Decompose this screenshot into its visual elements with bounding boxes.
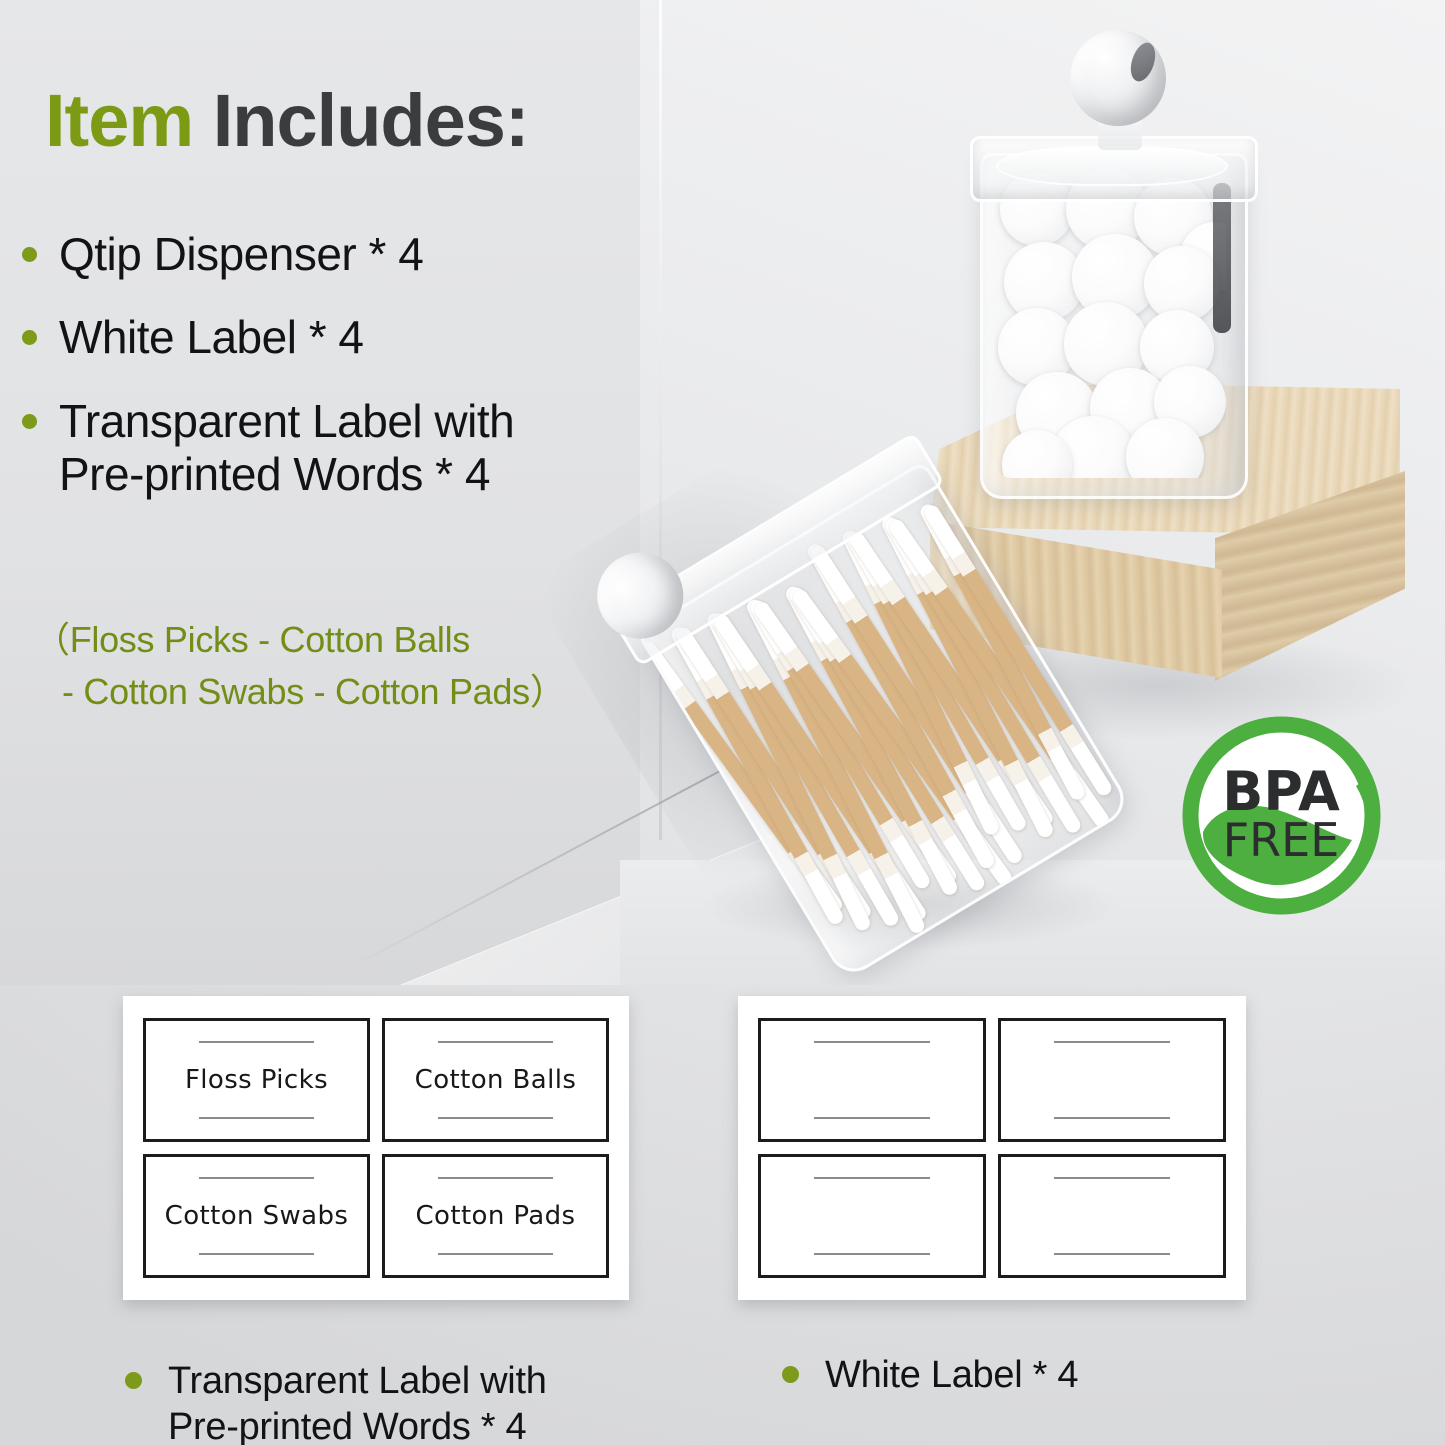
list-item-label: Transparent Label with Pre-printed Words…	[59, 395, 514, 502]
bullet-dot-icon	[22, 414, 37, 429]
label-rule-top	[814, 1177, 929, 1179]
caption-text: White Label * 4	[825, 1352, 1078, 1398]
label-rule-bottom	[438, 1253, 553, 1255]
caption-transparent-label: Transparent Label with Pre-printed Words…	[125, 1358, 725, 1445]
list-item-label: Qtip Dispenser * 4	[59, 228, 423, 281]
page-title-green-word: Item	[45, 79, 193, 162]
label-card	[998, 1018, 1226, 1142]
label-card	[998, 1154, 1226, 1278]
label-rule-top	[438, 1041, 553, 1043]
bullet-dot-icon	[22, 330, 37, 345]
bullet-dot-icon	[125, 1372, 142, 1389]
cotton-ball-jar-lid-rim	[996, 146, 1228, 186]
transparent-label-sheet: Floss Picks Cotton Balls Cotton Swabs Co…	[123, 996, 629, 1300]
label-card-text: Cotton Balls	[415, 1065, 577, 1095]
label-card: Cotton Pads	[382, 1154, 609, 1278]
page-title: Item Includes:	[45, 78, 529, 163]
bpa-free-badge-icon: BPA FREE	[1180, 714, 1383, 917]
caption-white-label: White Label * 4	[782, 1352, 1302, 1398]
cotton-ball-jar	[960, 18, 1260, 488]
caption-text: Transparent Label with Pre-printed Words…	[168, 1358, 547, 1445]
cotton-balls-fill	[994, 168, 1226, 478]
label-rule-top	[1054, 1041, 1169, 1043]
label-rule-top	[199, 1177, 314, 1179]
label-rule-bottom	[1054, 1117, 1169, 1119]
label-rule-top	[438, 1177, 553, 1179]
list-item: White Label * 4	[22, 311, 662, 364]
jar-highlight	[1213, 183, 1231, 333]
label-card-text: Floss Picks	[185, 1065, 328, 1095]
label-rule-top	[1054, 1177, 1169, 1179]
label-card-text: Cotton Swabs	[165, 1201, 349, 1231]
label-rule-bottom	[1054, 1253, 1169, 1255]
label-card	[758, 1154, 986, 1278]
label-rule-bottom	[814, 1253, 929, 1255]
infographic-canvas: Item Includes: Qtip Dispenser * 4 White …	[0, 0, 1445, 1445]
bpa-badge-line2: FREE	[1223, 813, 1340, 867]
bullet-dot-icon	[782, 1366, 799, 1383]
label-rule-top	[199, 1041, 314, 1043]
page-title-dark-word: Includes:	[213, 79, 529, 162]
preprinted-words-note: （Floss Picks - Cotton Balls - Cotton Swa…	[34, 614, 654, 718]
label-card: Floss Picks	[143, 1018, 370, 1142]
note-line-1: （Floss Picks - Cotton Balls	[34, 619, 470, 660]
label-rule-bottom	[199, 1253, 314, 1255]
label-rule-top	[814, 1041, 929, 1043]
white-label-sheet	[738, 996, 1246, 1300]
list-item-label: White Label * 4	[59, 311, 363, 364]
label-rule-bottom	[814, 1117, 929, 1119]
note-line-2: - Cotton Swabs - Cotton Pads）	[62, 666, 654, 718]
list-item: Qtip Dispenser * 4	[22, 228, 662, 281]
item-includes-list: Qtip Dispenser * 4 White Label * 4 Trans…	[22, 228, 662, 531]
label-card: Cotton Balls	[382, 1018, 609, 1142]
label-card: Cotton Swabs	[143, 1154, 370, 1278]
list-item: Transparent Label with Pre-printed Words…	[22, 395, 662, 502]
bullet-dot-icon	[22, 247, 37, 262]
label-rule-bottom	[438, 1117, 553, 1119]
bpa-free-badge: BPA FREE	[1180, 714, 1383, 917]
label-rule-bottom	[199, 1117, 314, 1119]
label-card-text: Cotton Pads	[416, 1201, 576, 1231]
label-card	[758, 1018, 986, 1142]
